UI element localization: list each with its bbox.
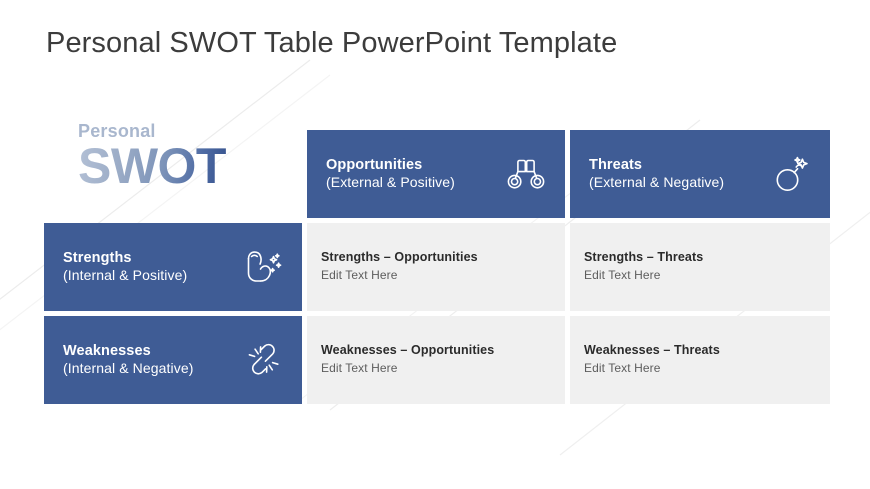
swot-matrix: Opportunities (External & Positive) bbox=[44, 130, 830, 412]
matrix-corner-cell bbox=[44, 130, 302, 218]
cell-weaknesses-opportunities[interactable]: Weaknesses – Opportunities Edit Text Her… bbox=[307, 316, 565, 404]
row-header-strengths-subtitle: (Internal & Positive) bbox=[63, 267, 187, 285]
bomb-icon bbox=[770, 153, 812, 195]
column-header-opportunities[interactable]: Opportunities (External & Positive) bbox=[307, 130, 565, 218]
row-header-strengths[interactable]: Strengths (Internal & Positive) bbox=[44, 223, 302, 311]
broken-chain-icon bbox=[242, 339, 284, 381]
page-title: Personal SWOT Table PowerPoint Template bbox=[46, 27, 617, 60]
column-header-opportunities-title: Opportunities bbox=[326, 156, 455, 174]
flexed-bicep-icon bbox=[242, 246, 284, 288]
cell-weaknesses-threats-title: Weaknesses – Threats bbox=[584, 342, 814, 359]
cell-weaknesses-opportunities-title: Weaknesses – Opportunities bbox=[321, 342, 549, 359]
cell-strengths-threats-title: Strengths – Threats bbox=[584, 249, 814, 266]
cell-strengths-threats-placeholder: Edit Text Here bbox=[584, 267, 814, 283]
cell-weaknesses-opportunities-placeholder: Edit Text Here bbox=[321, 360, 549, 376]
row-header-weaknesses-subtitle: (Internal & Negative) bbox=[63, 360, 194, 378]
binoculars-icon bbox=[505, 153, 547, 195]
row-header-strengths-title: Strengths bbox=[63, 249, 187, 267]
column-header-opportunities-subtitle: (External & Positive) bbox=[326, 174, 455, 192]
cell-weaknesses-threats-placeholder: Edit Text Here bbox=[584, 360, 814, 376]
row-header-weaknesses-title: Weaknesses bbox=[63, 342, 194, 360]
column-header-threats[interactable]: Threats (External & Negative) bbox=[570, 130, 830, 218]
cell-weaknesses-threats[interactable]: Weaknesses – Threats Edit Text Here bbox=[570, 316, 830, 404]
cell-strengths-opportunities-title: Strengths – Opportunities bbox=[321, 249, 549, 266]
row-header-weaknesses[interactable]: Weaknesses (Internal & Negative) bbox=[44, 316, 302, 404]
column-header-threats-subtitle: (External & Negative) bbox=[589, 174, 724, 192]
cell-strengths-threats[interactable]: Strengths – Threats Edit Text Here bbox=[570, 223, 830, 311]
cell-strengths-opportunities-placeholder: Edit Text Here bbox=[321, 267, 549, 283]
cell-strengths-opportunities[interactable]: Strengths – Opportunities Edit Text Here bbox=[307, 223, 565, 311]
column-header-threats-title: Threats bbox=[589, 156, 724, 174]
